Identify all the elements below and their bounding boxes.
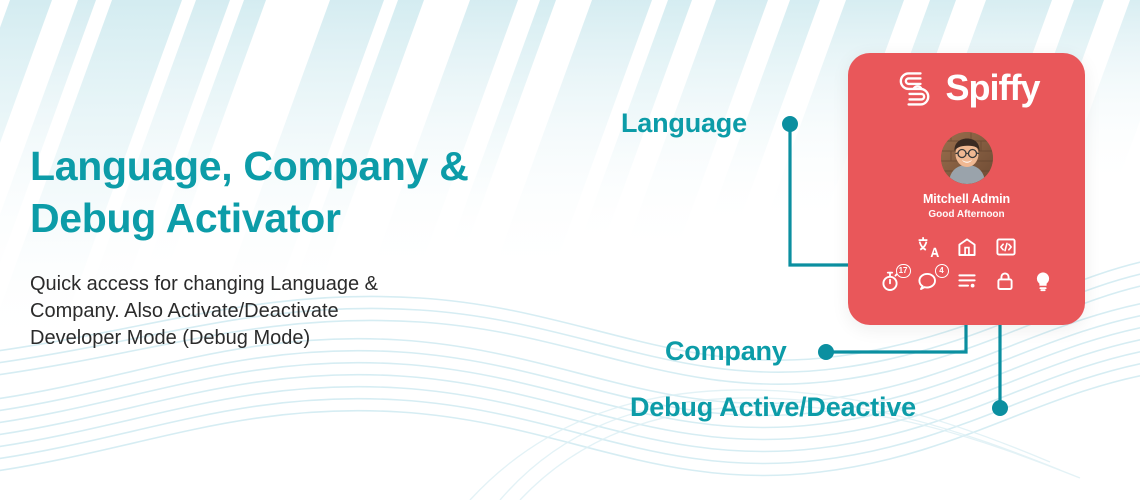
messages-badge: 4 <box>935 264 949 278</box>
connector-dot-company <box>818 344 834 360</box>
card-icon-row-primary <box>848 236 1085 258</box>
activity-timer-icon[interactable]: 17 <box>880 270 902 292</box>
filter-icon[interactable] <box>956 270 978 292</box>
code-icon[interactable] <box>995 236 1017 258</box>
spiffy-wordmark: Spiffy <box>945 70 1039 106</box>
card-icon-row-secondary: 17 4 <box>848 270 1085 292</box>
greeting-text: Good Afternoon <box>848 209 1085 220</box>
lock-icon[interactable] <box>994 270 1016 292</box>
company-icon[interactable] <box>956 236 978 258</box>
spiffy-paperclip-icon <box>893 67 937 109</box>
activity-badge: 17 <box>896 264 911 278</box>
subcopy-line-1: Quick access for changing Language & <box>30 273 378 295</box>
chat-bubbles-icon[interactable]: 4 <box>918 270 940 292</box>
callout-label-company: Company <box>665 336 787 367</box>
connector-dot-debug <box>992 400 1008 416</box>
connector-dot-language <box>782 116 798 132</box>
lightbulb-idea-icon[interactable] <box>1032 270 1054 292</box>
callout-label-debug: Debug Active/Deactive <box>630 392 916 423</box>
page-title: Language, Company & Debug Activator <box>30 140 530 245</box>
headline-line-1: Language, Company & <box>30 143 469 189</box>
page-subtitle: Quick access for changing Language & Com… <box>30 271 470 353</box>
subcopy-line-3: Developer Mode (Debug Mode) <box>30 327 310 349</box>
subcopy-line-2: Company. Also Activate/Deactivate <box>30 300 339 322</box>
user-name: Mitchell Admin <box>848 192 1085 206</box>
translate-icon[interactable] <box>917 236 939 258</box>
left-text-block: Language, Company & Debug Activator Quic… <box>30 140 530 353</box>
callout-label-language: Language <box>621 108 747 139</box>
spiffy-user-card: Spiffy <box>848 53 1085 325</box>
headline-line-2: Debug Activator <box>30 195 341 241</box>
promo-banner: Language, Company & Debug Activator Quic… <box>0 0 1140 500</box>
spiffy-logo: Spiffy <box>848 64 1085 112</box>
avatar <box>941 132 993 184</box>
